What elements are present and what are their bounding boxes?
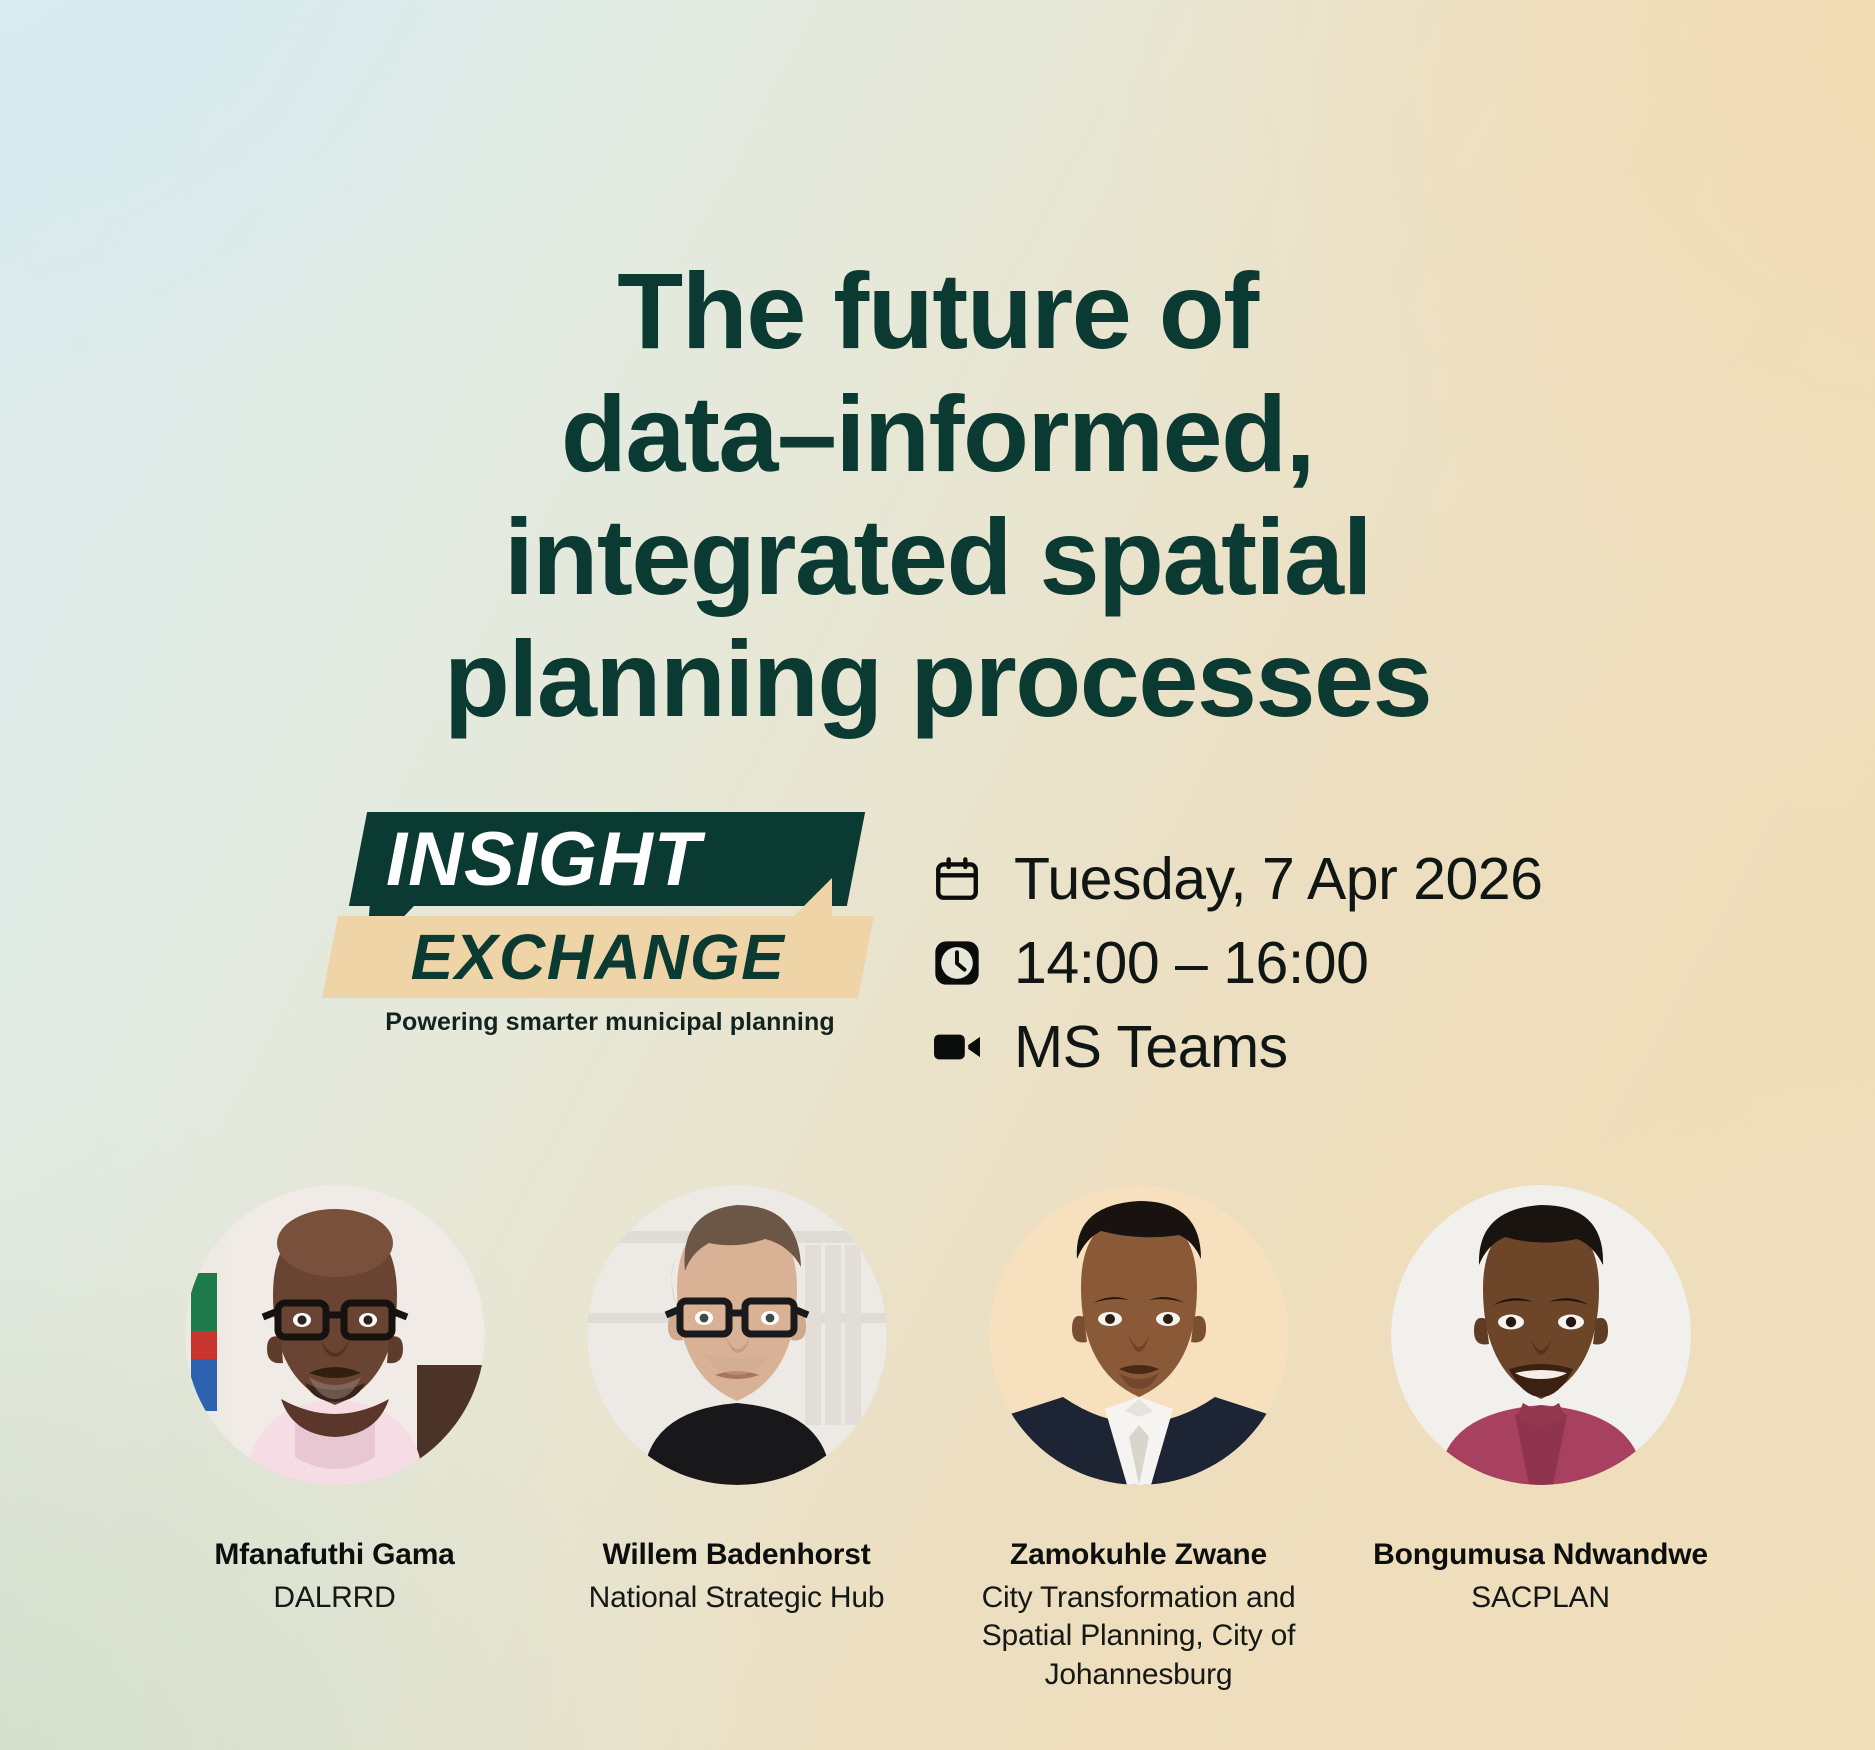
speaker-org: City Transformation and Spatial Planning… bbox=[959, 1579, 1319, 1694]
event-date: Tuesday, 7 Apr 2026 bbox=[1014, 850, 1542, 909]
speaker-name: Willem Badenhorst bbox=[602, 1537, 870, 1573]
detail-row-platform: MS Teams bbox=[930, 1013, 1542, 1081]
speaker-org: DALRRD bbox=[273, 1579, 395, 1617]
portrait-man-glasses-black-top-icon bbox=[587, 1185, 887, 1485]
speaker-card: Zamokuhle Zwane City Transformation and … bbox=[959, 1185, 1319, 1694]
logo-insight-text: INSIGHT bbox=[386, 816, 856, 904]
speakers-row: Mfanafuthi Gama DALRRD bbox=[0, 1185, 1875, 1694]
event-poster: The future of data–informed, integrated … bbox=[0, 0, 1875, 1750]
speaker-name: Zamokuhle Zwane bbox=[1010, 1537, 1267, 1573]
headline-line-2: data–informed, bbox=[150, 373, 1725, 496]
portrait-young-man-suit-tie-icon bbox=[989, 1185, 1289, 1485]
avatar bbox=[185, 1185, 485, 1485]
insight-exchange-logo: INSIGHT EXCHANGE Powering smarter munici… bbox=[330, 812, 890, 1027]
clock-icon bbox=[930, 936, 984, 990]
avatar bbox=[587, 1185, 887, 1485]
portrait-bald-man-glasses-pink-shirt-icon bbox=[185, 1185, 485, 1485]
speaker-name: Bongumusa Ndwandwe bbox=[1373, 1537, 1708, 1573]
speaker-org: SACPLAN bbox=[1471, 1579, 1610, 1617]
event-time: 14:00 – 16:00 bbox=[1014, 934, 1368, 993]
detail-row-time: 14:00 – 16:00 bbox=[930, 929, 1542, 997]
speaker-org: National Strategic Hub bbox=[589, 1579, 885, 1617]
detail-row-date: Tuesday, 7 Apr 2026 bbox=[930, 845, 1542, 913]
logo-tagline: Powering smarter municipal planning bbox=[330, 1008, 890, 1037]
page-title: The future of data–informed, integrated … bbox=[0, 250, 1875, 740]
avatar bbox=[989, 1185, 1289, 1485]
logo-exchange-text: EXCHANGE bbox=[330, 916, 866, 998]
speaker-name: Mfanafuthi Gama bbox=[214, 1537, 454, 1573]
portrait-man-maroon-shirt-icon bbox=[1391, 1185, 1691, 1485]
speaker-card: Bongumusa Ndwandwe SACPLAN bbox=[1361, 1185, 1721, 1617]
headline-line-4: planning processes bbox=[150, 618, 1725, 741]
speaker-card: Willem Badenhorst National Strategic Hub bbox=[557, 1185, 917, 1617]
speaker-card: Mfanafuthi Gama DALRRD bbox=[155, 1185, 515, 1617]
event-details: Tuesday, 7 Apr 2026 14:00 – 16:00 MS Tea… bbox=[930, 845, 1542, 1081]
headline-line-1: The future of bbox=[150, 250, 1725, 373]
avatar bbox=[1391, 1185, 1691, 1485]
calendar-icon bbox=[930, 852, 984, 906]
video-camera-icon bbox=[930, 1020, 984, 1074]
event-platform: MS Teams bbox=[1014, 1018, 1288, 1077]
headline-line-3: integrated spatial bbox=[150, 496, 1725, 619]
